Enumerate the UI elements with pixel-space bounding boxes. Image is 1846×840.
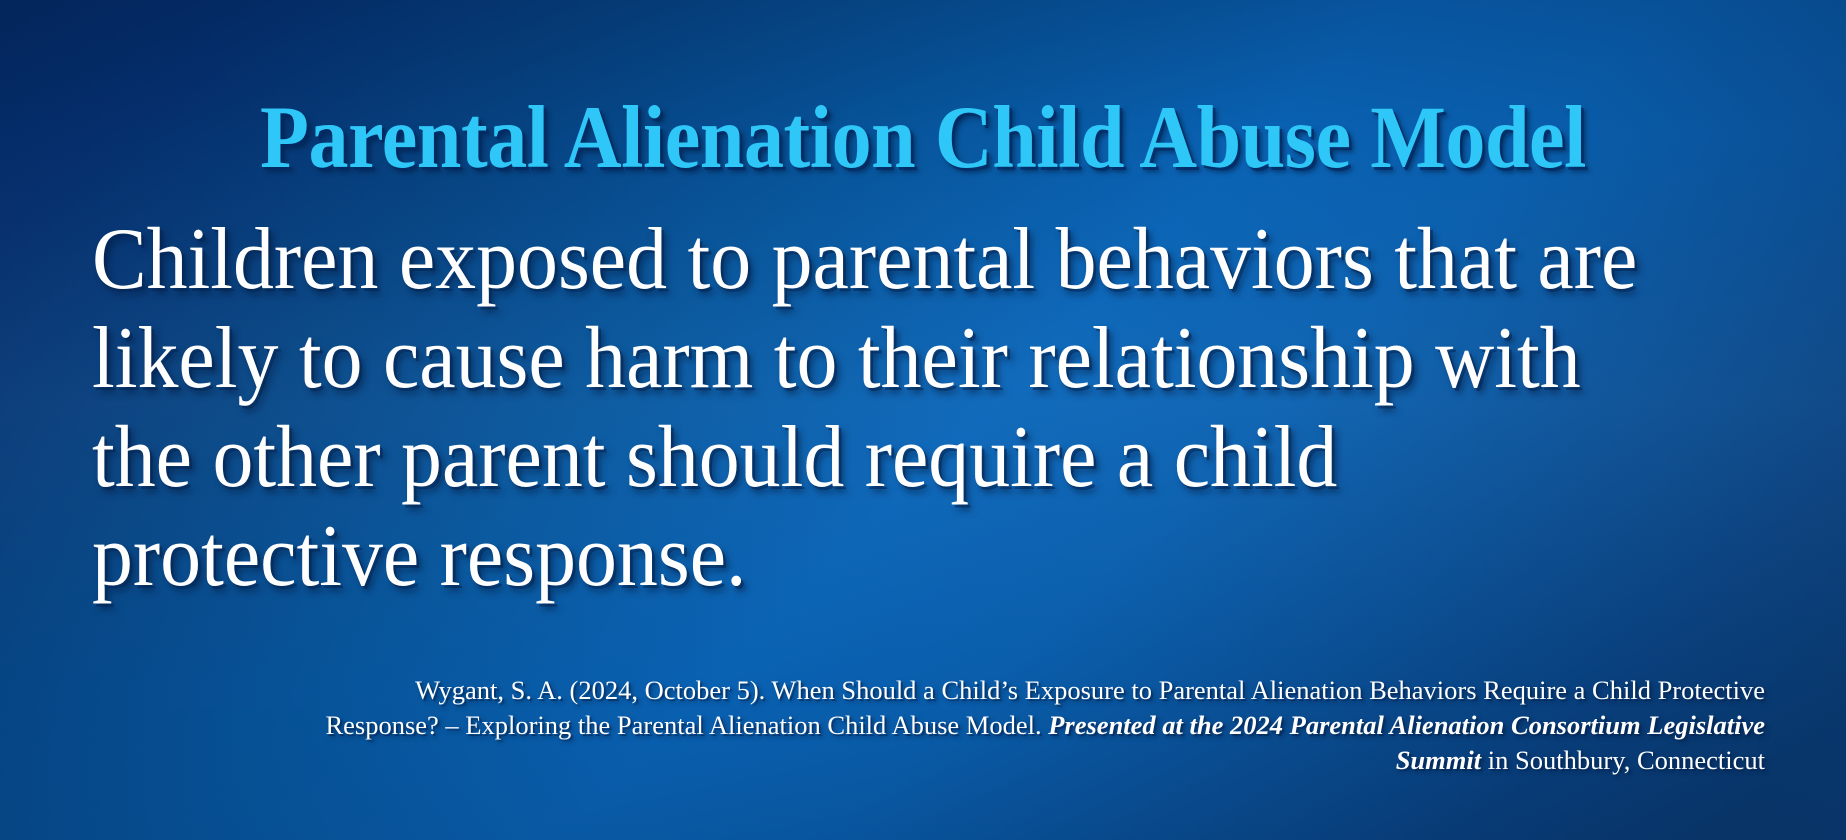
body-text-line-3: the other parent should require a child <box>92 408 1664 507</box>
body-text-block: Children exposed to parental behaviors t… <box>92 210 1782 606</box>
body-text-line-2: likely to cause harm to their relationsh… <box>92 309 1664 408</box>
citation-block: Wygant, S. A. (2024, October 5). When Sh… <box>300 673 1765 778</box>
slide-content: Parental Alienation Child Abuse Model Ch… <box>0 0 1846 840</box>
presentation-slide: Parental Alienation Child Abuse Model Ch… <box>0 0 1846 840</box>
body-text-line-4: protective response. <box>92 507 1664 606</box>
citation-tail: in Southbury, Connecticut <box>1481 745 1765 775</box>
body-text-line-1: Children exposed to parental behaviors t… <box>92 210 1664 309</box>
page-title: Parental Alienation Child Abuse Model <box>92 94 1753 183</box>
